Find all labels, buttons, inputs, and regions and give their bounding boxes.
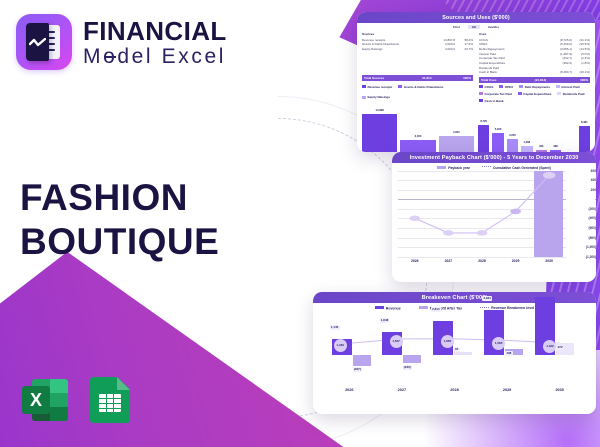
poster-canvas: FINANCIAL Model Excel FASHION BOUTIQUE X bbox=[0, 0, 600, 447]
legend-item: Equity Raisings bbox=[362, 95, 390, 103]
y-tick: 200 bbox=[591, 188, 596, 192]
npat-label: 67 bbox=[454, 347, 460, 352]
x-tick: 2026 bbox=[323, 388, 376, 392]
bar: 8,481 bbox=[579, 126, 590, 152]
x-tick: 2028 bbox=[465, 259, 499, 263]
y-tick: (1,200) bbox=[586, 255, 596, 259]
npat-label: (467) bbox=[353, 367, 362, 372]
uses-bar-chart: 8,725 5,400 3,056 1,288 433 382 - 8,481 bbox=[478, 106, 590, 152]
y-tick: 400 bbox=[591, 178, 596, 182]
breakeven-marker: 1,647 bbox=[390, 335, 403, 348]
sources-bar-chart: 14,898 3,000 4,000 bbox=[362, 106, 474, 152]
total-pct: 100% bbox=[570, 78, 588, 82]
row-pct: 23.7% bbox=[455, 47, 473, 52]
logo-wave-icon bbox=[29, 38, 46, 47]
legend-item: COGS bbox=[479, 85, 493, 89]
breakeven-group-2028: 2,814 67 1,650 bbox=[427, 313, 473, 385]
legend-item-cumulative-cash: Cumulative Cash Generated (Spent) bbox=[482, 166, 551, 170]
breakeven-x-axis-labels: 2026 2027 2028 2029 2030 bbox=[323, 388, 586, 392]
tab-first[interactable]: First bbox=[453, 25, 460, 29]
npat-bar bbox=[454, 352, 472, 355]
y-tick: (1,000) bbox=[586, 245, 596, 249]
brand-del: del bbox=[117, 45, 153, 68]
supported-apps: X bbox=[22, 377, 130, 423]
x-tick: 2027 bbox=[376, 388, 429, 392]
row-pct: (40.1%) bbox=[572, 70, 590, 75]
breakeven-group-2029: 3,934 408 1,585 bbox=[478, 313, 524, 385]
breakeven-group-2027: 1,848 (230) 1,647 bbox=[376, 313, 422, 385]
breakeven-marker: 1,650 bbox=[441, 335, 454, 348]
bar: 8,725 bbox=[478, 125, 489, 152]
x-tick: 2030 bbox=[533, 388, 586, 392]
legend-item: Grants & Debts Drawdowns bbox=[398, 85, 443, 93]
legend-item-payback-year: Payback year bbox=[437, 166, 470, 170]
y-tick: - bbox=[595, 197, 596, 201]
sources-table: Sources Revenue receipts 14,897.8 58.4% … bbox=[362, 32, 473, 83]
total-label: Total Sources bbox=[364, 76, 384, 80]
breakeven-group-2030: 5,346 972 1,422 bbox=[529, 313, 575, 385]
y-tick: (600) bbox=[589, 226, 596, 230]
sources-uses-bar-charts: 14,898 3,000 4,000 8,725 5,400 3,056 1,2… bbox=[357, 105, 595, 152]
npat-label: 972 bbox=[556, 345, 563, 350]
uses-table: Uses COGS (8,725.0) (41.1%) OPEX (5,400.… bbox=[479, 32, 590, 83]
page-title-line-1: FASHION bbox=[20, 176, 219, 220]
card-sources-and-uses[interactable]: Sources and Uses ($'000) First All month… bbox=[357, 12, 595, 152]
payback-legend: Payback year Cumulative Cash Generated (… bbox=[392, 163, 596, 171]
sources-chart-legend: Revenue receipts Grants & Debts Drawdown… bbox=[362, 83, 473, 105]
legend-item: OPEX bbox=[499, 85, 513, 89]
row-value: 4,000.0 bbox=[429, 47, 455, 52]
uses-header: Uses bbox=[479, 32, 590, 36]
brand-m: M bbox=[83, 45, 103, 68]
legend-item: Capital Expenditure bbox=[518, 92, 552, 96]
y-tick: (400) bbox=[589, 216, 596, 220]
revenue-label: 1,140 bbox=[330, 325, 340, 330]
uses-chart-legend: COGS OPEX Debt Repayments Interest Paid … bbox=[479, 83, 590, 105]
breakeven-marker: 1,439 bbox=[334, 339, 347, 352]
x-tick: 2028 bbox=[428, 388, 481, 392]
total-label: Total Uses bbox=[481, 78, 496, 82]
legend-item-revenue: Revenue bbox=[375, 306, 401, 311]
brand-excel: Excel bbox=[162, 45, 226, 68]
table-row: Equity Raisings 4,000.0 23.7% bbox=[362, 47, 473, 52]
x-tick: 2029 bbox=[499, 259, 533, 263]
row-label: Cash in Bank bbox=[479, 70, 546, 75]
sources-uses-title: Sources and Uses ($'000) bbox=[357, 12, 595, 23]
tab-all[interactable]: All bbox=[468, 25, 480, 29]
bar: 14,898 bbox=[362, 114, 397, 153]
row-value: (8,480.7) bbox=[546, 70, 572, 75]
y-tick: (800) bbox=[589, 236, 596, 240]
payback-x-axis-labels: 2026 2027 2028 2029 2030 bbox=[398, 259, 566, 263]
payback-plot-area: 600 400 200 - (200) (400) (600) (800) (1… bbox=[398, 171, 566, 257]
brand-name-primary: FINANCIAL bbox=[83, 18, 227, 44]
total-pct: 100% bbox=[453, 76, 471, 80]
x-tick: 2027 bbox=[432, 259, 466, 263]
npat-bar bbox=[353, 355, 371, 366]
bar: 4,000 bbox=[439, 136, 474, 152]
revenue-label: 2,814 bbox=[431, 307, 441, 312]
bar: 3,056 bbox=[507, 139, 518, 152]
sources-total-row: Total Sources 21,814 100% bbox=[362, 75, 473, 81]
legend-item: Corporate Tax Paid bbox=[479, 92, 512, 96]
tab-months[interactable]: months bbox=[488, 25, 499, 29]
card-breakeven[interactable]: Breakeven Chart ($'000) Revenue Net Prof… bbox=[313, 292, 596, 414]
revenue-label: 3,934 bbox=[482, 296, 492, 301]
page-title: FASHION BOUTIQUE bbox=[20, 176, 219, 263]
table-row: Cash in Bank (8,480.7) (40.1%) bbox=[479, 70, 590, 75]
revenue-label: 1,848 bbox=[380, 318, 390, 323]
total-value: (21,814) bbox=[520, 78, 546, 82]
google-sheets-icon bbox=[90, 377, 130, 423]
sources-uses-tables: Sources Revenue receipts 14,897.8 58.4% … bbox=[357, 29, 595, 83]
breakeven-marker: 1,585 bbox=[492, 337, 505, 350]
breakeven-group-2026: 1,140 (467) 1,439 bbox=[326, 313, 372, 385]
brand-name-secondary: Model Excel bbox=[83, 46, 227, 67]
bar: 5,400 bbox=[492, 133, 503, 152]
card-investment-payback[interactable]: Investment Payback Chart ($'000) - 5 Yea… bbox=[392, 152, 596, 282]
x-tick: 2026 bbox=[398, 259, 432, 263]
x-tick: 2029 bbox=[481, 388, 534, 392]
cumulative-cash-markers bbox=[398, 171, 566, 257]
x-tick: 2030 bbox=[532, 259, 566, 263]
sources-header: Sources bbox=[362, 32, 473, 36]
npat-bar bbox=[403, 355, 421, 363]
legend-item: Dividends Paid bbox=[557, 92, 584, 96]
y-tick: 600 bbox=[591, 169, 596, 173]
microsoft-excel-icon: X bbox=[22, 377, 68, 423]
brand-o-slashed: o bbox=[103, 46, 117, 67]
npat-label: (230) bbox=[403, 365, 412, 370]
financial-model-logo-icon bbox=[16, 14, 72, 70]
bar: 3,000 bbox=[400, 140, 435, 152]
payback-chart-title: Investment Payback Chart ($'000) - 5 Yea… bbox=[392, 152, 596, 163]
brand-lockup: FINANCIAL Model Excel bbox=[16, 14, 227, 70]
excel-x-glyph: X bbox=[22, 386, 50, 414]
legend-item: Revenue receipts bbox=[362, 85, 392, 93]
total-value: 21,814 bbox=[406, 76, 432, 80]
sheets-grid-glyph bbox=[99, 394, 121, 412]
legend-item: Debt Repayments bbox=[519, 85, 550, 89]
legend-item: Interest Paid bbox=[556, 85, 580, 89]
npat-label: 408 bbox=[505, 351, 512, 356]
row-label: Equity Raisings bbox=[362, 47, 429, 52]
page-title-line-2: BOUTIQUE bbox=[20, 220, 219, 264]
breakeven-plot-area: 1,140 (467) 1,439 1,848 (230) 1,647 2,81… bbox=[323, 313, 586, 385]
legend-item: Cash in Bank bbox=[479, 99, 504, 103]
y-tick: (200) bbox=[589, 207, 596, 211]
